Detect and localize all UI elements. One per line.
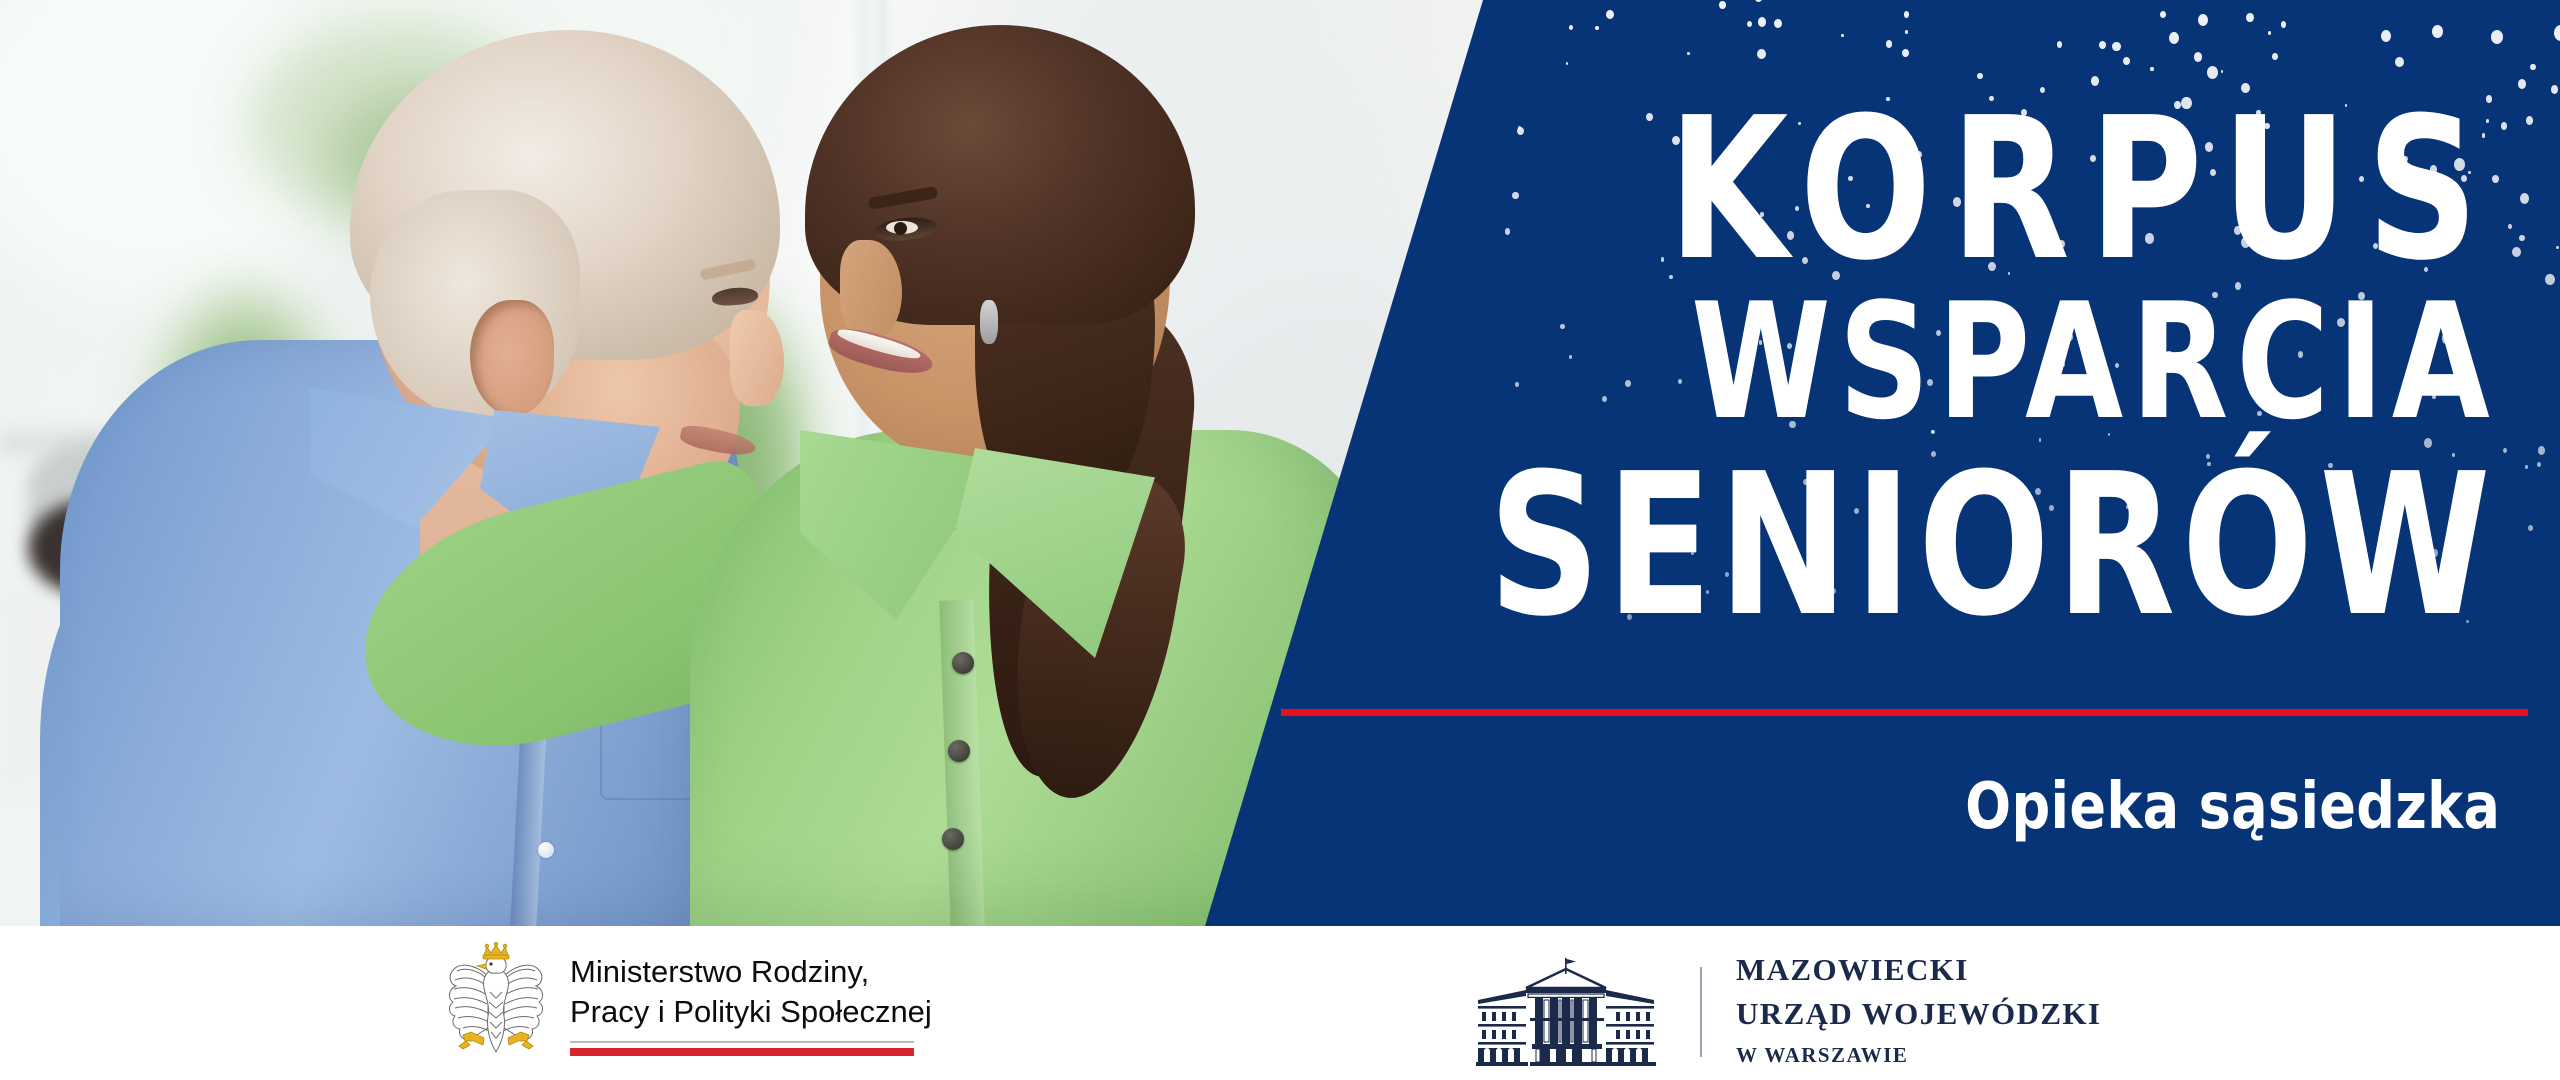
decorative-dot [2264, 123, 2270, 130]
decorative-dot [2373, 243, 2378, 249]
decorative-dot [2358, 292, 2365, 300]
decorative-dot [1757, 49, 1766, 59]
decorative-dot [1732, 141, 1736, 146]
decorative-dot [2181, 97, 2192, 110]
decorative-dot [2165, 351, 2173, 360]
caregiver-nose [840, 240, 902, 340]
decorative-dot [2402, 181, 2407, 187]
decorative-dot [2058, 240, 2065, 249]
decorative-dot [2537, 462, 2541, 467]
decorative-dot [2150, 67, 2153, 71]
decorative-dot [2040, 87, 2045, 93]
decorative-dot [1927, 379, 1933, 386]
decorative-dot [2492, 175, 2499, 183]
decorative-dot [1787, 231, 1794, 240]
decorative-dot [2160, 11, 2166, 18]
voivodeship-office-logo-text: MAZOWIECKI URZĄD WOJEWÓDZKI W WARSZAWIE [1736, 948, 2101, 1076]
decorative-dot [1692, 170, 1699, 178]
decorative-dot [1515, 382, 1519, 387]
decorative-dot [1953, 197, 1961, 207]
decorative-dot [2486, 95, 2492, 102]
decorative-dot [1931, 451, 1936, 457]
voivodeship-office-logo: MAZOWIECKI URZĄD WOJEWÓDZKI W WARSZAWIE [1460, 948, 2101, 1076]
decorative-dot [1798, 122, 1801, 126]
decorative-dot [1693, 232, 1698, 238]
decorative-dot [2139, 118, 2148, 129]
senior-ear [470, 300, 554, 416]
decorative-dot [1768, 234, 1773, 240]
ministry-logo-red-rule [570, 1048, 914, 1056]
decorative-dot [1517, 127, 1524, 135]
decorative-dot [1678, 379, 1683, 385]
decorative-dot [2049, 505, 2054, 511]
decorative-dot [2395, 57, 2404, 67]
decorative-dot [2545, 274, 2554, 285]
decorative-dot [1832, 271, 1840, 280]
ministry-logo-text: Ministerstwo Rodziny, Pracy i Polityki S… [570, 952, 932, 1055]
decorative-dot [1886, 40, 1893, 48]
decorative-dot [2298, 351, 2304, 358]
caregiver-polo-button [942, 828, 964, 850]
decorative-dot [1687, 52, 1690, 56]
ministry-logo: Ministerstwo Rodziny, Pracy i Polityki S… [444, 942, 932, 1066]
decorative-dot [1803, 479, 1809, 486]
government-building-emblem-icon [1460, 956, 1672, 1068]
decorative-dot [1886, 97, 1889, 101]
decorative-dot [2554, 25, 2560, 41]
decorative-dot [1759, 340, 1763, 345]
decorative-dot [2145, 233, 2154, 243]
caregiver-earring [980, 300, 998, 344]
decorative-dot [2345, 104, 2348, 107]
decorative-dot [2099, 41, 2106, 49]
decorative-dot [2210, 169, 2217, 177]
red-divider-rule [1281, 709, 2528, 716]
decorative-dot [2252, 134, 2257, 140]
decorative-dot [2247, 193, 2251, 198]
decorative-dot [1760, 212, 1764, 216]
decorative-dot [2430, 165, 2438, 174]
decorative-dot [2454, 158, 2465, 171]
decorative-dot [2503, 448, 2507, 453]
decorative-dot [2306, 172, 2312, 179]
decorative-dot [1931, 430, 1934, 434]
decorative-dot [1989, 96, 1994, 101]
decorative-dot [2268, 31, 2271, 35]
banner-subtitle: Opieka sąsiedzka [1965, 770, 2500, 844]
decorative-dot [1854, 508, 1859, 514]
decorative-dot [2442, 333, 2451, 343]
decorative-dot [2337, 318, 2345, 327]
decorative-dot [2430, 177, 2438, 186]
decorative-dot [2205, 142, 2213, 152]
decorative-dot [2008, 272, 2011, 275]
decorative-dot [1719, 1, 1726, 9]
decorative-dot [1802, 257, 1808, 264]
decorative-dot [2359, 176, 2364, 182]
decorative-dot [2556, 246, 2559, 249]
decorative-dot [2241, 83, 2250, 93]
decorative-dot [1512, 192, 1519, 200]
decorative-dot [1569, 355, 1572, 359]
voivodeship-name-line-3: W WARSZAWIE [1736, 1036, 2101, 1076]
decorative-dot [2206, 563, 2211, 569]
decorative-dot [1789, 421, 1796, 429]
decorative-dot [1602, 396, 1607, 402]
decorative-dot [2530, 64, 2536, 71]
decorative-dot [1627, 614, 1632, 620]
decorative-dot [2296, 243, 2299, 246]
decorative-dot [2328, 463, 2333, 469]
decorative-dot [1566, 62, 1569, 65]
decorative-dot [2241, 237, 2250, 248]
decorative-dot [2453, 200, 2460, 209]
decorative-dot [2538, 446, 2546, 455]
decorative-dot [1904, 11, 1910, 18]
decorative-dot [2022, 123, 2027, 129]
decorative-dot [2526, 116, 2533, 125]
decorative-dot [1560, 324, 1564, 329]
decorative-dot [2091, 76, 2099, 86]
decorative-dot [2212, 292, 2217, 298]
decorative-dot [2512, 247, 2521, 257]
decorative-dot [2272, 53, 2278, 60]
decorative-dot [1505, 228, 1511, 235]
decorative-dot [2528, 525, 2533, 531]
decorative-dot [1669, 275, 1673, 280]
decorative-dot [2245, 143, 2249, 148]
decorative-dot [1841, 34, 1844, 37]
caregiver-pupil [894, 222, 907, 235]
decorative-dot [2468, 171, 2471, 174]
decorative-dot [1569, 25, 1574, 30]
ministry-logo-grey-rule [570, 1041, 914, 1043]
decorative-dot [2174, 101, 2181, 110]
decorative-dot [1774, 19, 1782, 28]
decorative-dot [1747, 21, 1752, 27]
decorative-dot [2263, 406, 2268, 411]
decorative-dot [2420, 186, 2428, 196]
decorative-dot [2257, 411, 2261, 416]
decorative-dot [1606, 10, 1614, 19]
decorative-dot [2039, 438, 2042, 441]
decorative-dot [2466, 620, 2469, 624]
decorative-dot [2221, 70, 2224, 73]
decorative-dot [1848, 176, 1853, 182]
decorative-dot [2501, 122, 2507, 130]
decorative-dot [2491, 30, 2503, 44]
decorative-dot [2119, 156, 2128, 167]
decorative-dot [2432, 549, 2438, 557]
decorative-dot [2169, 32, 2179, 44]
decorative-dot [1765, 248, 1770, 254]
decorative-dot [2112, 238, 2118, 245]
decorative-dot [2518, 79, 2526, 88]
decorative-dot [2090, 155, 2096, 162]
decorative-dot [2326, 176, 2333, 184]
decorative-dot [2246, 13, 2254, 22]
decorative-dot [2271, 500, 2276, 506]
decorative-dot [2035, 488, 2041, 495]
decorative-dot [2451, 227, 2460, 238]
decorative-dot [1672, 136, 1680, 145]
polish-eagle-emblem-icon [444, 942, 548, 1066]
decorative-dot [1795, 206, 1799, 211]
decorative-dot [1988, 262, 1996, 272]
decorative-dot [1906, 378, 1909, 382]
decorative-dot [2520, 193, 2529, 204]
decorative-dot [2452, 453, 2455, 457]
decorative-dot [2250, 176, 2258, 185]
decorative-dot [2256, 110, 2261, 116]
decorative-dot [1871, 400, 1876, 406]
decorative-dot [2207, 66, 2218, 79]
decorative-dot [2403, 156, 2408, 162]
decorative-dot [2235, 282, 2241, 290]
decorative-dot [2525, 465, 2528, 468]
decorative-dot [1595, 26, 1599, 30]
decorative-dot [1725, 572, 1729, 577]
caregiver-polo-button [952, 652, 974, 674]
decorative-dot [1989, 121, 1996, 129]
decorative-dot [2115, 363, 2119, 368]
decorative-dot [1661, 257, 1665, 262]
decorative-dot [2021, 509, 2025, 514]
decorative-dot [1684, 482, 1690, 489]
decorative-dot [2424, 267, 2428, 272]
decorative-dot [2234, 226, 2242, 235]
decorative-dot [1808, 334, 1815, 342]
voivodeship-name-line-1: MAZOWIECKI [1736, 948, 2101, 992]
decorative-dot [1646, 113, 1653, 121]
ministry-name-line-2: Pracy i Polityki Społecznej [570, 994, 932, 1029]
decorative-dot [2207, 462, 2211, 467]
decorative-dot [1874, 569, 1879, 575]
decorative-dot [1902, 49, 1909, 58]
caregiver-polo-button [948, 740, 970, 762]
decorative-dot [1733, 225, 1736, 228]
decorative-dot [1831, 588, 1836, 594]
decorative-dot [2432, 395, 2436, 399]
decorative-dot [2486, 119, 2489, 123]
decorative-dot [2432, 25, 2443, 38]
footer-logo-bar: Ministerstwo Rodziny, Pracy i Polityki S… [0, 926, 2560, 1080]
decorative-dot [1931, 430, 1934, 434]
decorative-dot [1916, 151, 1922, 158]
decorative-dot [2482, 133, 2486, 138]
decorative-dot [2126, 505, 2129, 508]
decorative-dot [2450, 574, 2456, 581]
decorative-dot [1756, 126, 1764, 135]
decorative-dot [1866, 204, 1869, 208]
decorative-dot [1518, 126, 1521, 130]
decorative-dot [2061, 362, 2066, 368]
decorative-dot [2194, 52, 2203, 62]
decorative-dot [2281, 21, 2287, 28]
decorative-dot [2088, 332, 2093, 338]
decorative-dot [1827, 146, 1833, 153]
voivodeship-name-line-2: URZĄD WOJEWÓDZKI [1736, 992, 2101, 1036]
decorative-dot [1758, 17, 1766, 27]
decorative-dot [2108, 433, 2111, 436]
decorative-dot [2198, 14, 2208, 26]
decorative-dot [2112, 42, 2120, 52]
decorative-dot [1831, 172, 1837, 179]
decorative-dot [2066, 333, 2073, 341]
decorative-dot [2456, 554, 2460, 558]
logo-vertical-divider [1700, 967, 1702, 1057]
decorative-dot [1905, 30, 1908, 34]
decorative-dot [2551, 85, 2558, 94]
decorative-dot [2206, 454, 2210, 459]
decorative-dot [2123, 57, 2130, 65]
decorative-dot [1977, 73, 1983, 80]
campaign-banner: KORPUS WSPARCIA SENIORÓW Opieka sąsiedzk… [0, 0, 2560, 926]
decorative-dot [2413, 363, 2420, 371]
decorative-dot [2424, 438, 2432, 447]
decorative-dot [1816, 140, 1825, 150]
decorative-dot [2021, 109, 2027, 116]
decorative-dot [1691, 552, 1694, 555]
decorative-dot [2519, 235, 2525, 242]
decorative-dot [1959, 591, 1964, 597]
decorative-dot [2269, 255, 2272, 258]
decorative-dot [2381, 30, 2391, 42]
ministry-name-line-1: Ministerstwo Rodziny, [570, 954, 869, 989]
decorative-dot [1625, 380, 1631, 387]
decorative-dot [1755, 0, 1761, 2]
decorative-dot [1787, 343, 1792, 349]
decorative-dot [2401, 246, 2407, 253]
senior-shirt-button [538, 842, 554, 858]
decorative-dot [2362, 380, 2370, 389]
decorative-dot [2057, 41, 2063, 48]
decorative-dot [2508, 224, 2513, 229]
decorative-dot [1706, 590, 1710, 594]
decorative-dot [1936, 330, 1941, 336]
decorative-dot [2461, 175, 2467, 183]
